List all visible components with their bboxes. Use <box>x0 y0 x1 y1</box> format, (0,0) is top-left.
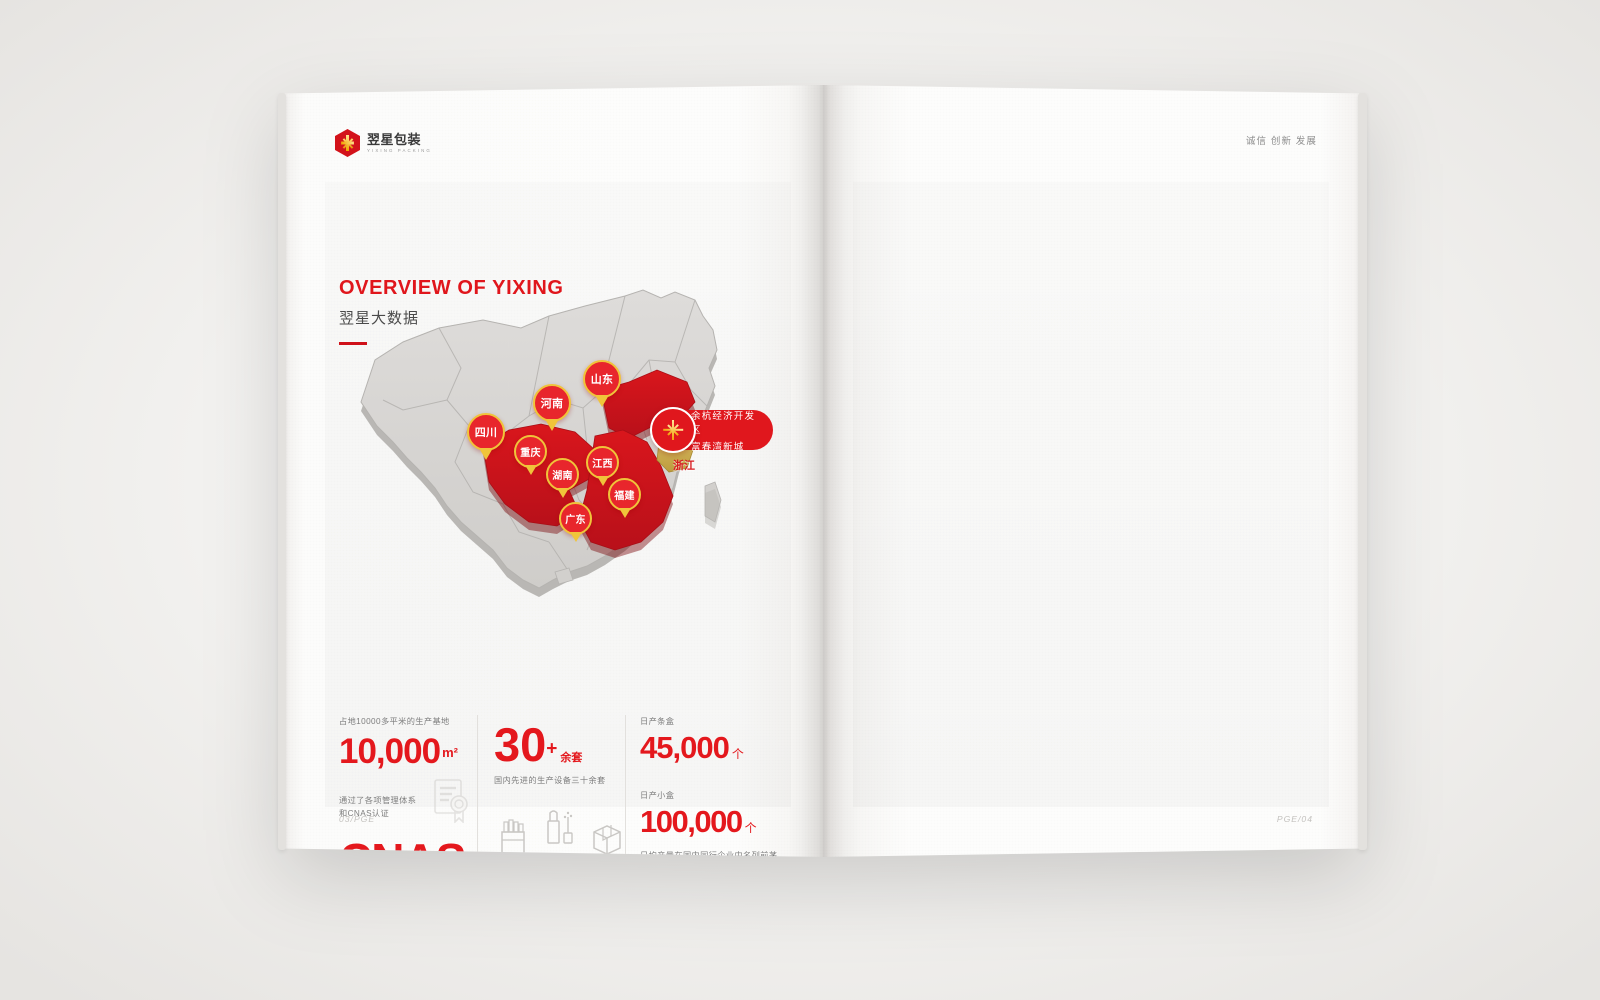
pin-label: 重庆 <box>514 435 547 468</box>
box-icon <box>589 818 625 856</box>
map-pin-hunan[interactable]: 湖南 <box>546 458 579 498</box>
pin-label: 广东 <box>559 502 592 535</box>
title-chinese: 翌星大数据 <box>339 307 564 328</box>
map-label-zhejiang: 浙江 <box>673 457 695 473</box>
equipment-caption: 国内先进的生产设备三十余套 <box>494 774 625 787</box>
page-edge-left <box>278 93 286 850</box>
right-page: 诚信 创新 发展 产值：亿元 2014 2015 2016 2017 2018 … <box>823 85 1363 857</box>
title-english: OVERVIEW OF YIXING <box>339 277 564 300</box>
pin-label: 四川 <box>467 413 505 451</box>
daily-box-caption: 日产小盒 <box>640 789 789 802</box>
callout-line-2: 富春湾新城 <box>691 439 759 453</box>
magazine-spread: 翌星包装 YIXING PACKING OVERVIEW OF YIXING 翌… <box>283 85 1363 857</box>
daily-box-value: 100,000 <box>640 804 742 839</box>
left-page: 翌星包装 YIXING PACKING OVERVIEW OF YIXING 翌… <box>283 85 823 857</box>
daily-strip-caption: 日产条盒 <box>640 715 789 728</box>
map-pin-shandong[interactable]: 山东 <box>583 360 621 407</box>
map-pin-fujian[interactable]: 福建 <box>608 478 641 518</box>
equipment-unit: 余套 <box>560 752 582 764</box>
star-icon <box>340 135 355 151</box>
page-edge-right <box>1358 93 1367 850</box>
map-callout-yuhang[interactable]: 余杭经济开发区 富春湾新城 <box>653 410 773 450</box>
logo-text-cn: 翌星包装 <box>367 133 432 146</box>
pin-label: 湖南 <box>546 458 579 491</box>
right-content-panel <box>853 182 1329 807</box>
area-value: 10,000 <box>339 732 440 771</box>
pin-label: 福建 <box>608 478 641 511</box>
equipment-plus: + <box>546 739 557 760</box>
certificate-icon <box>431 777 473 823</box>
cigarette-pack-icon <box>496 818 530 856</box>
callout-line-1: 余杭经济开发区 <box>691 408 759 436</box>
daily-box-unit: 个 <box>745 821 757 835</box>
lipstick-icon <box>543 807 577 845</box>
map-pin-henan[interactable]: 河南 <box>533 384 571 431</box>
logo-hexagon-icon <box>335 129 360 157</box>
daily-strip-value: 45,000 <box>640 730 729 765</box>
logo-text-en: YIXING PACKING <box>367 149 432 153</box>
callout-star-badge <box>650 407 696 453</box>
area-caption: 占地10000多平米的生产基地 <box>339 715 467 728</box>
page-title: OVERVIEW OF YIXING 翌星大数据 <box>339 277 564 345</box>
brand-logo[interactable]: 翌星包装 YIXING PACKING <box>335 129 432 157</box>
star-burst-icon <box>662 419 684 441</box>
header-slogan: 诚信 创新 发展 <box>1246 133 1317 147</box>
pin-label: 河南 <box>533 384 571 422</box>
folio-right: PGE/04 <box>1277 814 1313 824</box>
map-pin-guangdong[interactable]: 广东 <box>559 502 592 542</box>
map-pin-sichuan[interactable]: 四川 <box>467 413 505 460</box>
title-underline <box>339 342 367 345</box>
pin-label: 江西 <box>586 446 619 479</box>
area-unit: m² <box>442 745 458 760</box>
daily-strip-unit: 个 <box>732 747 744 761</box>
equipment-value: 30 <box>494 718 546 771</box>
pin-label: 山东 <box>583 360 621 398</box>
folio-left: 03/PGE <box>339 814 375 824</box>
map-pin-chongqing[interactable]: 重庆 <box>514 435 547 475</box>
